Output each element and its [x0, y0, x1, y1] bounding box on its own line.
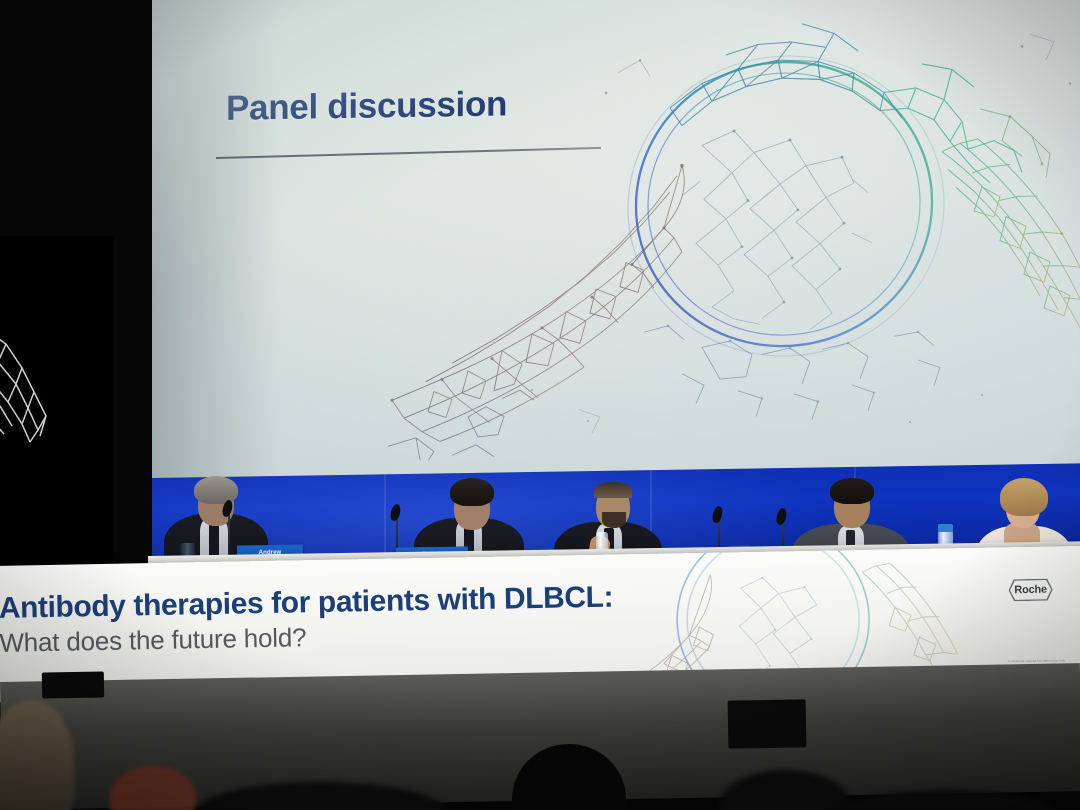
network-cell-wireframe-artwork [382, 0, 1080, 460]
main-projection-screen: Panel discussion [152, 0, 1080, 481]
conference-panel-photo: Panel discussion [0, 0, 1080, 810]
roche-logo: Roche [1008, 579, 1052, 602]
hair [194, 476, 238, 504]
hair-bald-fringe [594, 482, 632, 498]
beard [602, 512, 626, 528]
roche-logo-text: Roche [1008, 579, 1052, 602]
hair [450, 478, 494, 506]
stage-monitor [728, 699, 807, 748]
hair [830, 478, 874, 504]
bottle-cap [938, 524, 953, 532]
hair [1000, 478, 1048, 516]
secondary-projection-screen [0, 236, 114, 566]
stage-monitor [42, 671, 104, 698]
screen-shadow [152, 0, 282, 481]
slide-title: Panel discussion [226, 84, 507, 128]
banner-headline: Antibody therapies for patients with DLB… [0, 581, 613, 626]
wireframe-cell-fragment-icon [0, 306, 92, 456]
banner-subheadline: What does the future hold? [0, 622, 307, 659]
